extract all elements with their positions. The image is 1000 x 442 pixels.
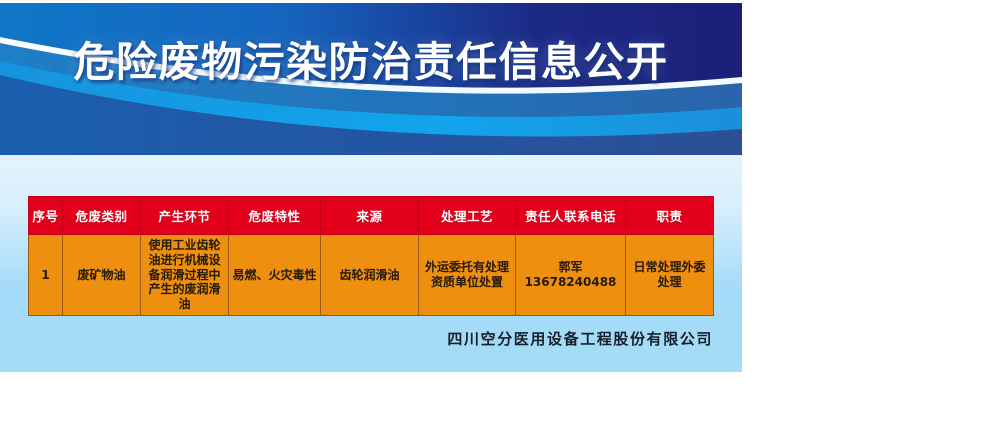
table-header-generation-stage: 产生环节 [141,197,229,235]
table-header-category: 危废类别 [63,197,141,235]
table-header-row: 序号 危废类别 产生环节 危废特性 来源 处理工艺 责任人联系电话 职责 [29,197,714,235]
table-header-source: 来源 [321,197,419,235]
table-row: 1 废矿物油 使用工业齿轮油进行机械设备润滑过程中产生的废润滑油 易燃、火灾毒性… [29,235,714,316]
cell-generation-stage: 使用工业齿轮油进行机械设备润滑过程中产生的废润滑油 [141,235,229,316]
company-name: 四川空分医用设备工程股份有限公司 [0,328,713,349]
hazardous-waste-table-wrapper: 序号 危废类别 产生环节 危废特性 来源 处理工艺 责任人联系电话 职责 1 废… [28,196,713,316]
cell-treatment: 外运委托有处理资质单位处置 [419,235,516,316]
responsible-person-name: 郭军 [519,260,622,275]
cell-source: 齿轮润滑油 [321,235,419,316]
responsible-person-phone: 13678240488 [519,275,622,290]
cell-characteristics: 易燃、火灾毒性 [229,235,321,316]
poster-banner [0,3,742,155]
cell-duty: 日常处理外委处理 [626,235,714,316]
cell-index: 1 [29,235,63,316]
table-header-characteristics: 危废特性 [229,197,321,235]
cell-category: 废矿物油 [63,235,141,316]
table-header-treatment: 处理工艺 [419,197,516,235]
table-header-duty: 职责 [626,197,714,235]
cell-responsible-contact: 郭军 13678240488 [516,235,626,316]
table-header-index: 序号 [29,197,63,235]
banner-graphic [0,3,742,155]
hazardous-waste-table: 序号 危废类别 产生环节 危废特性 来源 处理工艺 责任人联系电话 职责 1 废… [28,196,714,316]
table-header-responsible-phone: 责任人联系电话 [516,197,626,235]
information-disclosure-poster: 危险废物污染防治责任信息公开 序号 危废类别 产生环节 危废特性 来源 [0,0,742,372]
